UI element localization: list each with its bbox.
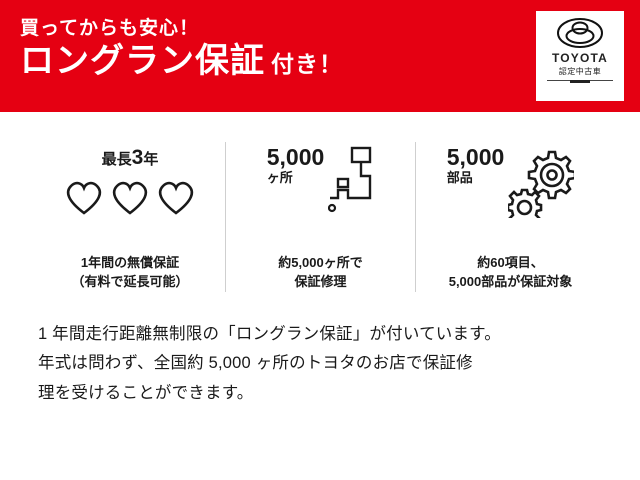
feature-2-text-col: 5,000 ヶ所 (267, 146, 325, 185)
feature-2-caption-line1: 約5,000ヶ所で (226, 254, 415, 273)
feature-3-caption: 約60項目、 5,000部品が保証対象 (416, 254, 605, 292)
header-banner: 買ってからも安心！ ロングラン保証 付き！ TOYOTA 認定中古車 (0, 0, 640, 112)
feature-2-caption-line2: 保証修理 (226, 273, 415, 292)
feature-2-number: 5,000 (267, 146, 325, 169)
feature-3-unit: 部品 (447, 171, 505, 185)
feature-service-locations: 5,000 ヶ所 約 (225, 142, 415, 292)
feature-1-caption-line1: 1年間の無償保証 (35, 254, 225, 273)
description-line-1: 1 年間走行距離無制限の「ロングラン保証」が付いています。 (38, 320, 606, 349)
warranty-promo-page: 買ってからも安心！ ロングラン保証 付き！ TOYOTA 認定中古車 (0, 0, 640, 480)
feature-1-suffix: 年 (143, 151, 158, 168)
header-title-suffix: 付き！ (271, 53, 343, 76)
feature-list: 最長3年 1年間の無償保証 (0, 112, 640, 312)
feature-2-unit: ヶ所 (267, 171, 325, 185)
feature-3-heading-row: 5,000 部品 (447, 146, 575, 223)
feature-1-number: 3 (132, 146, 144, 169)
feature-1-prefix: 最長 (102, 151, 132, 168)
description-line-3: 理を受けることができます。 (38, 379, 606, 408)
gears-icon (508, 146, 574, 223)
toyota-logo-box: TOYOTA 認定中古車 (536, 11, 624, 101)
feature-3-caption-line1: 約60項目、 (416, 254, 605, 273)
toyota-certified-label: 認定中古車 (559, 66, 602, 77)
feature-3-caption-line2: 5,000部品が保証対象 (416, 273, 605, 292)
map-route-icon (328, 146, 374, 229)
feature-warranty-years: 最長3年 1年間の無償保証 (35, 142, 225, 292)
feature-1-caption: 1年間の無償保証 （有料で延長可能） (35, 254, 225, 292)
feature-3-number: 5,000 (447, 146, 505, 169)
body-area: 最長3年 1年間の無償保証 (0, 112, 640, 480)
logo-underline (547, 80, 613, 81)
header-tagline: 買ってからも安心！ (20, 18, 343, 40)
feature-2-caption: 約5,000ヶ所で 保証修理 (226, 254, 415, 292)
three-hearts-icon (62, 177, 198, 217)
feature-1-visual: 最長3年 (35, 142, 225, 252)
feature-2-visual: 5,000 ヶ所 (226, 142, 415, 252)
description-line-2: 年式は問わず、全国約 5,000 ヶ所のトヨタのお店で保証修 (38, 349, 606, 378)
toyota-wordmark: TOYOTA (552, 51, 608, 65)
feature-1-caption-line2: （有料で延長可能） (35, 273, 225, 292)
description-block: 1 年間走行距離無制限の「ロングラン保証」が付いています。 年式は問わず、全国約… (38, 320, 606, 408)
toyota-ellipse-logo-icon (557, 17, 603, 49)
header-text-block: 買ってからも安心！ ロングラン保証 付き！ (20, 18, 343, 78)
feature-3-text-col: 5,000 部品 (447, 146, 505, 185)
feature-1-heading: 最長3年 (102, 146, 159, 169)
feature-2-heading-row: 5,000 ヶ所 (267, 146, 375, 229)
header-title-row: ロングラン保証 付き！ (20, 44, 343, 78)
feature-covered-parts: 5,000 部品 (415, 142, 605, 292)
feature-3-visual: 5,000 部品 (416, 142, 605, 252)
header-title-main: ロングラン保証 (20, 44, 265, 78)
